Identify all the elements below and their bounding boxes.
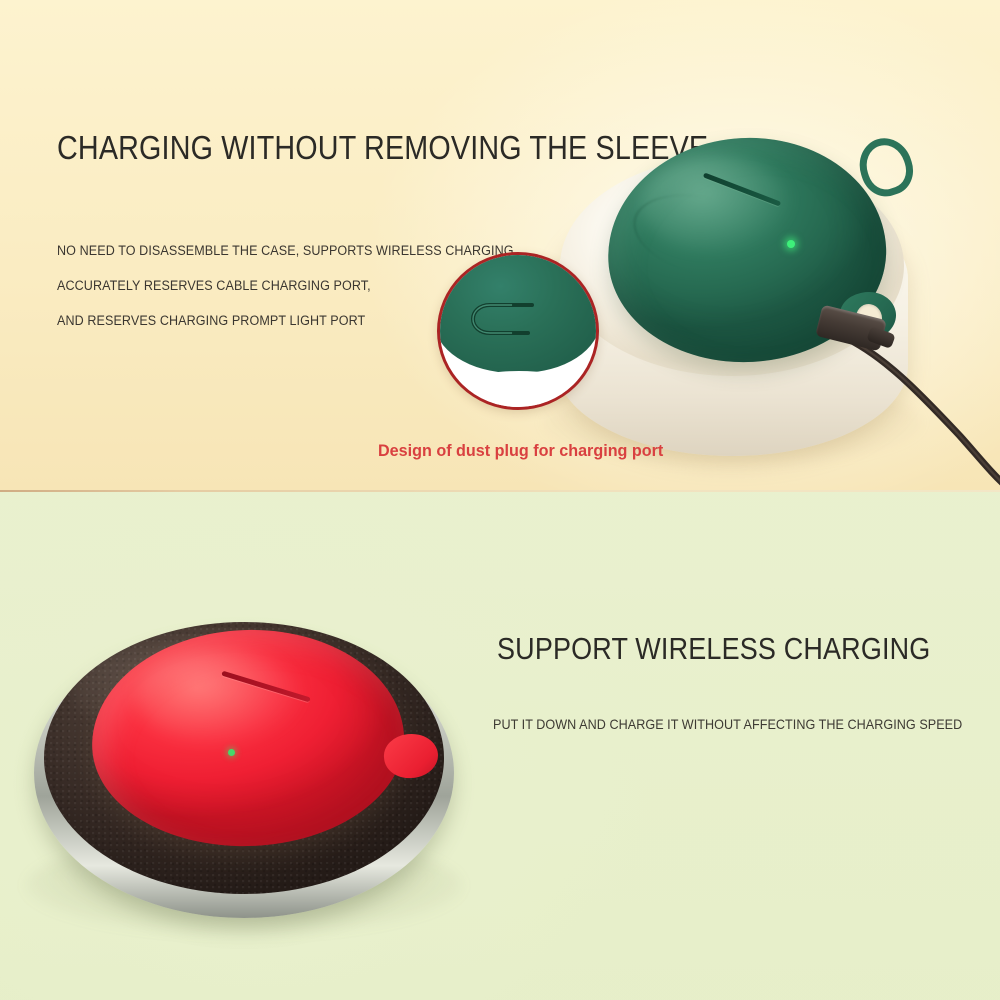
red-case-led-indicator: [228, 749, 235, 756]
top-panel: CHARGING WITHOUT REMOVING THE SLEEVE NO …: [0, 0, 1000, 492]
dust-plug-inset: [437, 252, 599, 410]
top-panel-body-line-1: NO NEED TO DISASSEMBLE THE CASE, SUPPORT…: [57, 243, 517, 259]
red-earbud-case: [92, 630, 444, 854]
bottom-panel-title: SUPPORT WIRELESS CHARGING: [497, 632, 930, 666]
dust-plug-icon: [470, 301, 544, 337]
red-case-highlight: [136, 650, 300, 744]
usb-c-connector: [818, 312, 892, 352]
top-panel-body-line-3: AND RESERVES CHARGING PROMPT LIGHT PORT: [57, 313, 365, 329]
bottom-panel-subtitle: PUT IT DOWN AND CHARGE IT WITHOUT AFFECT…: [493, 715, 962, 733]
charging-led-indicator: [787, 240, 795, 248]
product-infographic: CHARGING WITHOUT REMOVING THE SLEEVE NO …: [0, 0, 1000, 1000]
inset-white-band: [437, 371, 599, 410]
dust-plug-caption: Design of dust plug for charging port: [378, 440, 663, 461]
top-panel-body-line-2: ACCURATELY RESERVES CABLE CHARGING PORT,: [57, 278, 371, 294]
